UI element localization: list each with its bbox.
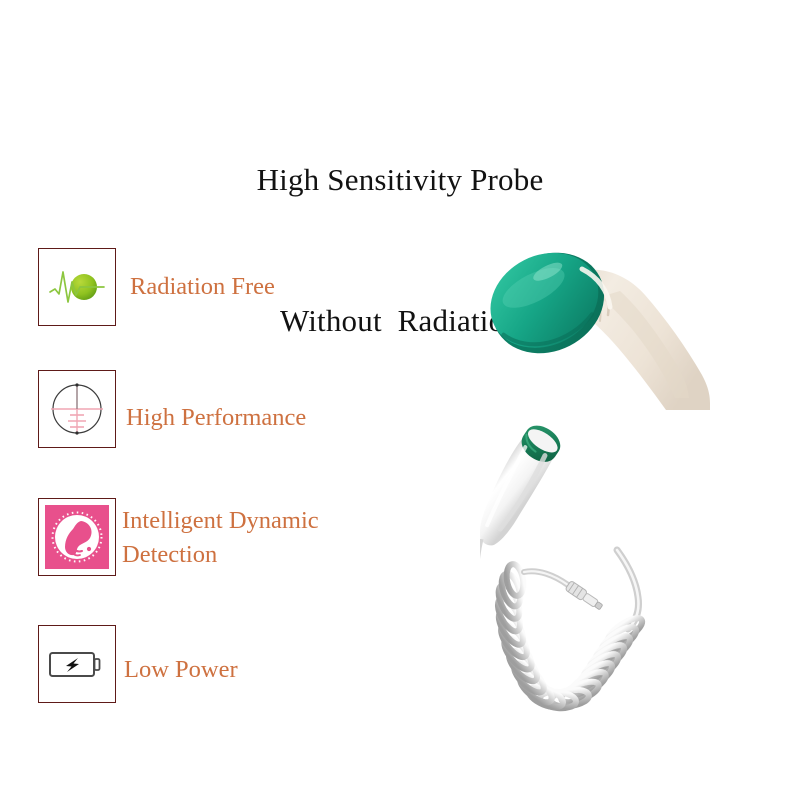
- icon-frame: [38, 370, 116, 448]
- cable-connector-plug: [565, 580, 604, 611]
- feature-label: Radiation Free: [130, 270, 275, 304]
- cable-coil-left: [493, 563, 555, 707]
- icon-frame: [38, 625, 116, 703]
- feature-label: Low Power: [124, 653, 238, 687]
- feature-label: High Performance: [126, 401, 306, 435]
- feature-item-high-performance: High Performance: [38, 370, 306, 448]
- feature-label: Intelligent Dynamic Detection: [122, 504, 319, 572]
- page-title-line-1: High Sensitivity Probe: [0, 156, 800, 203]
- icon-frame: [38, 498, 116, 576]
- probe-with-coiled-cable-image: [480, 425, 730, 725]
- fetus-ultrasound-icon: [45, 505, 109, 569]
- probe-head-closeup-image: [470, 225, 720, 410]
- product-feature-page: High Sensitivity Probe Without Radiation: [0, 0, 800, 800]
- crosshair-reticle-icon: [46, 378, 108, 440]
- icon-frame: [38, 248, 116, 326]
- feature-item-radiation-free: Radiation Free: [38, 248, 275, 326]
- battery-bolt-icon: [46, 644, 108, 684]
- feature-item-low-power: Low Power: [38, 625, 238, 703]
- ecg-radiation-free-icon: [46, 262, 108, 312]
- feature-item-intelligent-dynamic-detection: Intelligent Dynamic Detection: [38, 498, 319, 576]
